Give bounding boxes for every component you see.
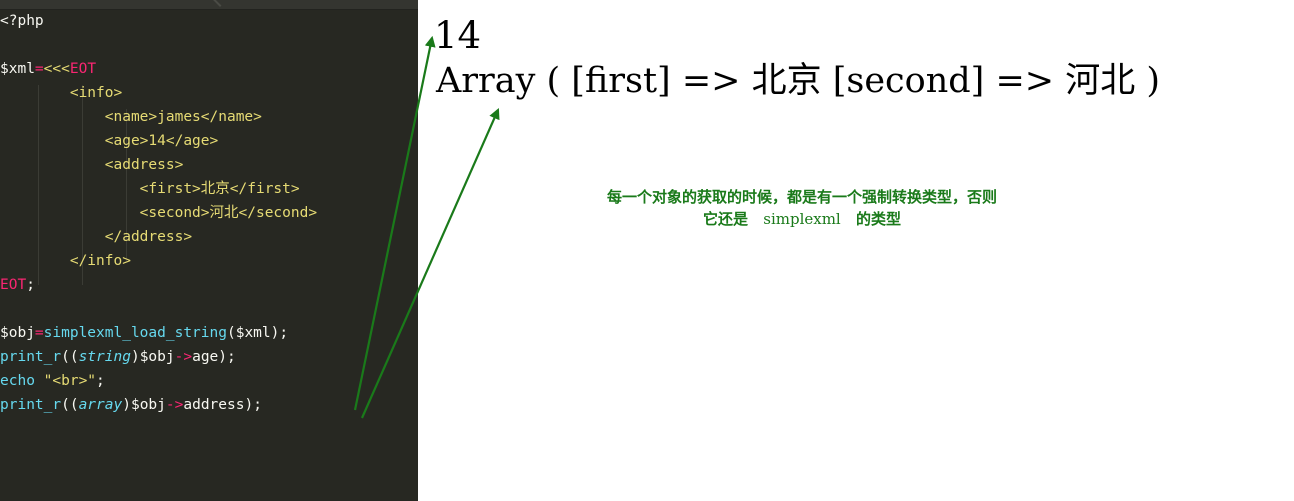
code-token: </info> <box>0 253 131 269</box>
output-age-value: 14 <box>434 16 481 56</box>
code-token: $xml <box>0 61 35 77</box>
annotation-line-2: 它还是 simplexml 的类型 <box>522 208 1082 230</box>
code-token: EOT <box>70 61 96 77</box>
code-line: <age>14</age> <box>0 129 418 153</box>
code-token: (( <box>61 397 78 413</box>
code-line: <?php <box>0 9 418 33</box>
code-token: print_r <box>0 397 61 413</box>
code-token: ) <box>122 397 131 413</box>
annotation-note: 每一个对象的获取的时候，都是有一个强制转换类型，否则 它还是 simplexml… <box>522 186 1082 230</box>
code-token: -> <box>175 349 192 365</box>
code-line: echo "<br>"; <box>0 369 418 393</box>
code-token: ) <box>131 349 140 365</box>
code-token: string <box>79 349 131 365</box>
annotation-line-2-part-c: 的类型 <box>856 210 901 228</box>
code-token: array <box>79 397 123 413</box>
code-line: <name>james</name> <box>0 105 418 129</box>
code-token: <info> <box>0 85 122 101</box>
code-token: <age>14</age> <box>0 133 218 149</box>
code-token: = <box>35 325 44 341</box>
code-content[interactable]: <?php $xml=<<<EOT <info> <name>james</na… <box>0 9 418 417</box>
code-token: $obj <box>131 397 166 413</box>
code-token: simplexml_load_string <box>44 325 227 341</box>
code-token: age <box>192 349 218 365</box>
code-token: = <box>35 61 44 77</box>
code-line: print_r((array)$obj->address); <box>0 393 418 417</box>
code-token: (( <box>61 349 78 365</box>
code-token: <address> <box>0 157 183 173</box>
annotation-line-2-part-a: 它还是 <box>703 210 748 228</box>
code-token: ); <box>271 325 288 341</box>
code-token: ); <box>218 349 235 365</box>
code-token: $obj <box>140 349 175 365</box>
code-token: ; <box>26 277 35 293</box>
code-token: <<< <box>44 61 70 77</box>
code-token: -> <box>166 397 183 413</box>
code-token: "<br>" <box>44 373 96 389</box>
code-token: ( <box>227 325 236 341</box>
screenshot-root: <?php $xml=<<<EOT <info> <name>james</na… <box>0 0 1294 501</box>
code-line: <info> <box>0 81 418 105</box>
code-token: ); <box>244 397 261 413</box>
code-token: ; <box>96 373 105 389</box>
code-line: <address> <box>0 153 418 177</box>
code-token: <first>北京</first> <box>0 181 300 197</box>
code-line: EOT; <box>0 273 418 297</box>
code-token: $obj <box>0 325 35 341</box>
code-token: address <box>183 397 244 413</box>
code-editor-pane[interactable]: <?php $xml=<<<EOT <info> <name>james</na… <box>0 0 418 501</box>
output-array-print: Array ( [first] => 北京 [second] => 河北 ) <box>436 59 1160 103</box>
code-token <box>35 373 44 389</box>
code-line: $obj=simplexml_load_string($xml); <box>0 321 418 345</box>
code-line: </address> <box>0 225 418 249</box>
code-token: print_r <box>0 349 61 365</box>
annotation-line-2-code: simplexml <box>763 210 840 228</box>
code-token: <name>james</name> <box>0 109 262 125</box>
code-token: <second>河北</second> <box>0 205 317 221</box>
code-line: <second>河北</second> <box>0 201 418 225</box>
annotation-line-1: 每一个对象的获取的时候，都是有一个强制转换类型，否则 <box>522 186 1082 208</box>
browser-output-pane: 14 Array ( [first] => 北京 [second] => 河北 … <box>418 0 1294 501</box>
code-token: </address> <box>0 229 192 245</box>
code-token: $xml <box>236 325 271 341</box>
code-line <box>0 297 418 321</box>
code-line: <first>北京</first> <box>0 177 418 201</box>
code-token: EOT <box>0 277 26 293</box>
code-token: <?php <box>0 13 44 29</box>
code-line: $xml=<<<EOT <box>0 57 418 81</box>
code-line: </info> <box>0 249 418 273</box>
code-line: print_r((string)$obj->age); <box>0 345 418 369</box>
code-token: echo <box>0 373 35 389</box>
code-line <box>0 33 418 57</box>
